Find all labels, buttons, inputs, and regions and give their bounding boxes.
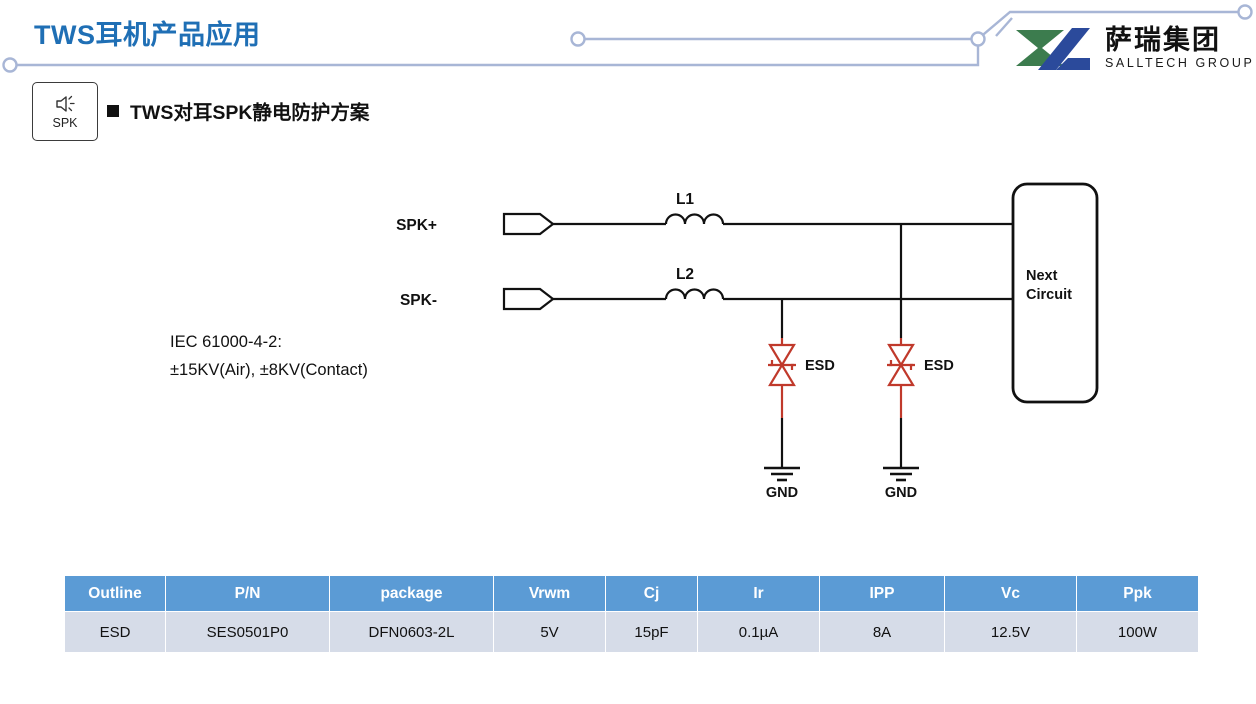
circuit-schematic: SPK+ L1 SPK- L2 ESD GND ESD: [0, 160, 1256, 550]
esd-device-2: ESD: [887, 338, 954, 418]
table-header-ipp: IPP: [820, 576, 944, 611]
table-header-vc: Vc: [945, 576, 1076, 611]
section-heading: TWS对耳SPK静电防护方案: [107, 96, 369, 125]
table-header-vrwm: Vrwm: [494, 576, 605, 611]
ground-label-1: GND: [766, 485, 798, 501]
next-circuit-line1: Next: [1026, 268, 1058, 284]
table-header-package: package: [330, 576, 493, 611]
page-title: TWS耳机产品应用: [34, 13, 261, 52]
table-cell-vc: 12.5V: [945, 612, 1076, 652]
table-row: ESD SES0501P0 DFN0603-2L 5V 15pF 0.1µA 8…: [65, 612, 1198, 652]
ground-symbol-2: [883, 468, 919, 480]
decoration-node-corner: [1239, 6, 1252, 19]
table-cell-pn: SES0501P0: [166, 612, 329, 652]
table-cell-ir: 0.1µA: [698, 612, 819, 652]
terminal-connector-spk-minus: [504, 289, 553, 309]
salltech-logo-mark: [1012, 24, 1094, 72]
terminal-label-spk-minus: SPK-: [400, 292, 437, 309]
square-bullet-icon: [107, 105, 119, 117]
section-heading-text: TWS对耳SPK静电防护方案: [130, 96, 369, 125]
brand-logo: 萨瑞集团 SALLTECH GROUP: [1012, 24, 1254, 72]
ground-label-2: GND: [885, 485, 917, 501]
inductor-label-l1: L1: [676, 191, 694, 208]
decoration-node-right: [972, 33, 985, 46]
table-header-outline: Outline: [65, 576, 165, 611]
table-cell-cj: 15pF: [606, 612, 697, 652]
brand-name-cn: 萨瑞集团: [1105, 27, 1254, 54]
spec-table: Outline P/N package Vrwm Cj Ir IPP Vc Pp…: [64, 575, 1199, 653]
terminal-connector-spk-plus: [504, 214, 553, 234]
terminal-label-spk-plus: SPK+: [396, 217, 437, 234]
esd-device-1: ESD: [768, 338, 835, 418]
inductor-l1: [666, 215, 723, 225]
table-header-cj: Cj: [606, 576, 697, 611]
esd-label-1: ESD: [805, 358, 835, 374]
esd-label-2: ESD: [924, 358, 954, 374]
table-cell-vrwm: 5V: [494, 612, 605, 652]
table-header-ir: Ir: [698, 576, 819, 611]
table-cell-outline: ESD: [65, 612, 165, 652]
inductor-l2: [666, 290, 723, 300]
decoration-path-tail: [996, 18, 1012, 36]
spk-badge-label: SPK: [52, 116, 77, 130]
decoration-node-mid: [572, 33, 585, 46]
spk-badge: SPK: [32, 82, 98, 141]
table-header-pn: P/N: [166, 576, 329, 611]
brand-name-en: SALLTECH GROUP: [1105, 57, 1254, 70]
table-cell-ipp: 8A: [820, 612, 944, 652]
inductor-label-l2: L2: [676, 266, 694, 283]
speaker-icon: [53, 94, 77, 114]
table-header-ppk: Ppk: [1077, 576, 1198, 611]
table-cell-ppk: 100W: [1077, 612, 1198, 652]
table-cell-package: DFN0603-2L: [330, 612, 493, 652]
next-circuit-line2: Circuit: [1026, 287, 1072, 303]
ground-symbol-1: [764, 468, 800, 480]
decoration-node-left: [4, 59, 17, 72]
table-header-row: Outline P/N package Vrwm Cj Ir IPP Vc Pp…: [65, 576, 1198, 611]
